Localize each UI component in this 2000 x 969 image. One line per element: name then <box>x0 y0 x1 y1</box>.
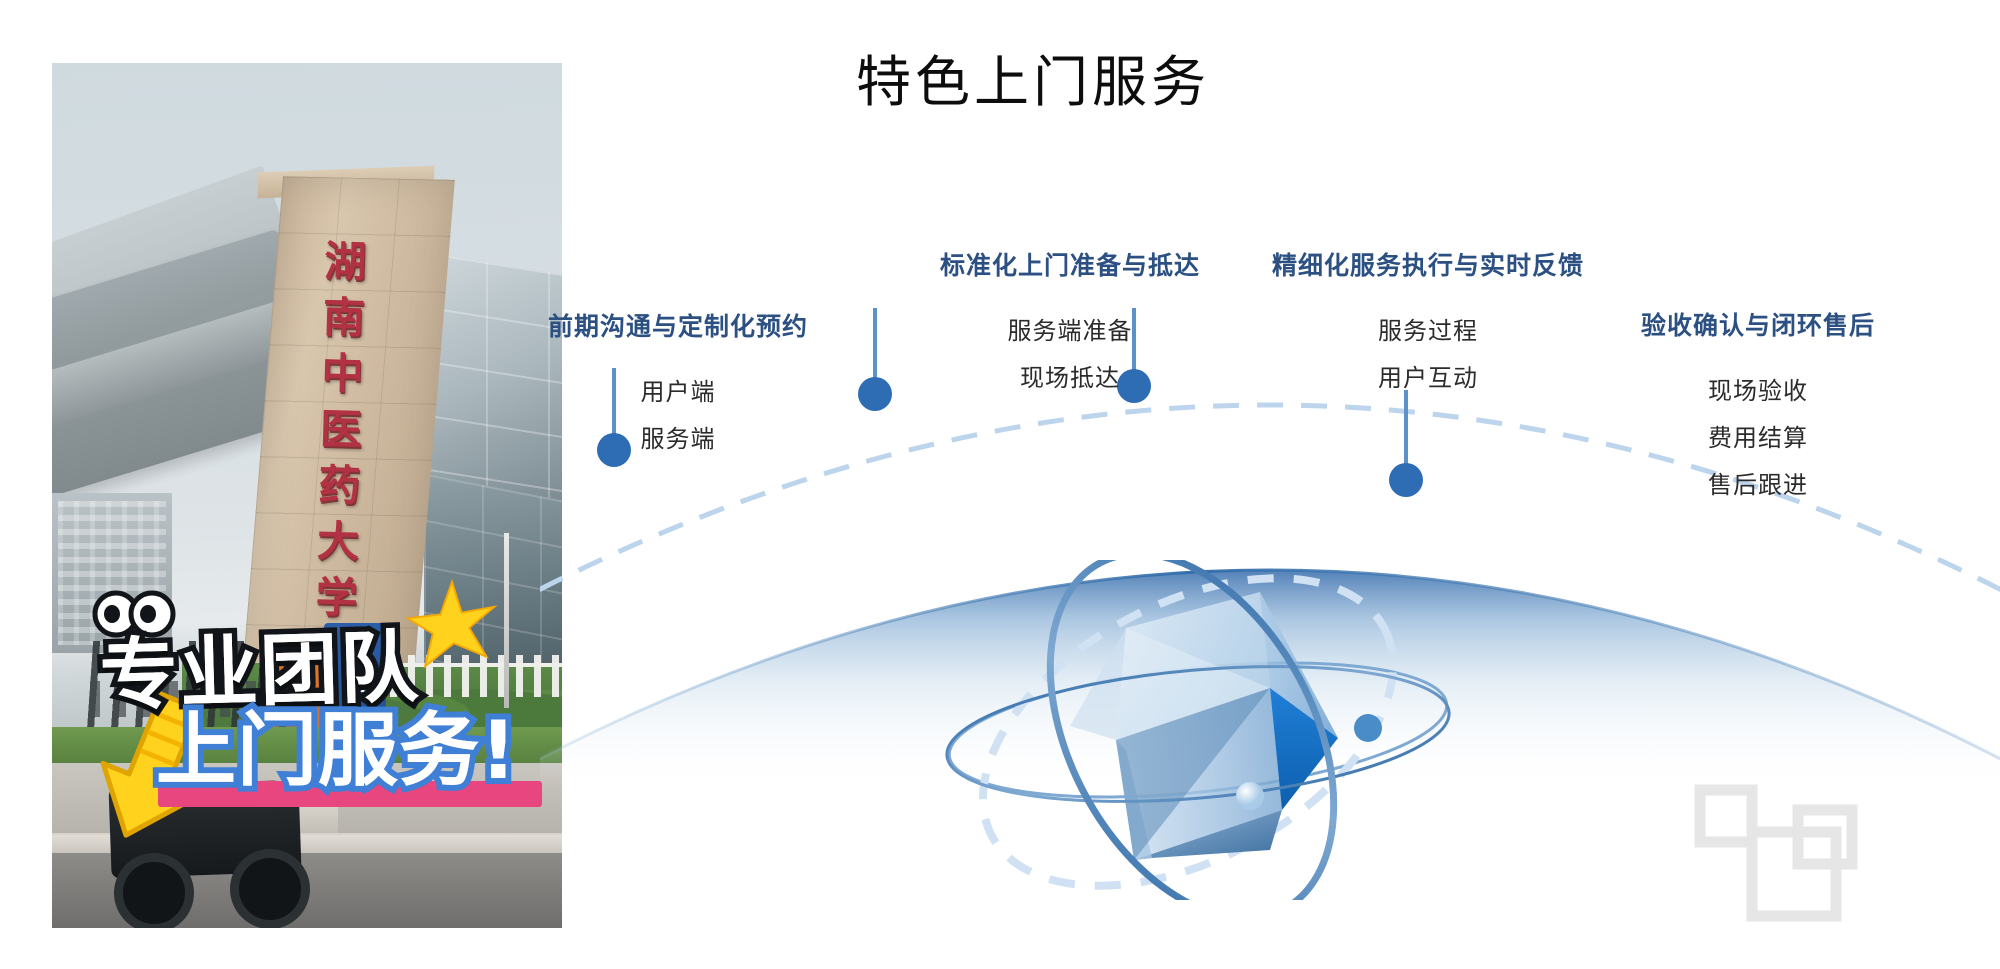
node-4-item: 售后跟进 <box>1578 462 1938 509</box>
node-2-items: 服务端准备 现场抵达 <box>890 308 1250 402</box>
node-1-heading: 前期沟通与定制化预约 <box>498 307 858 343</box>
node-1[interactable]: 前期沟通与定制化预约 用户端 服务端 <box>498 307 858 463</box>
node-4-item: 费用结算 <box>1578 415 1938 462</box>
slide-canvas: 湖 南 中 医 药 大 学 <box>0 0 2000 969</box>
node-4[interactable]: 验收确认与闭环售后 现场验收 费用结算 售后跟进 <box>1578 306 1938 509</box>
left-photo: 湖 南 中 医 药 大 学 <box>52 63 562 928</box>
node-2-item: 服务端准备 <box>890 308 1250 355</box>
crystal-orbit-graphic <box>930 560 1470 900</box>
node-2-heading: 标准化上门准备与抵达 <box>890 246 1250 282</box>
scooter-wheel-front <box>114 853 194 928</box>
node-1-item: 服务端 <box>498 416 858 463</box>
node-4-heading: 验收确认与闭环售后 <box>1578 306 1938 342</box>
node-2[interactable]: 标准化上门准备与抵达 服务端准备 现场抵达 <box>890 246 1250 402</box>
sign-char: 药 <box>318 464 361 507</box>
photo-overlay-line2: 上门服务! <box>156 703 562 799</box>
node-4-items: 现场验收 费用结算 售后跟进 <box>1578 368 1938 509</box>
page-title: 特色上门服务 <box>856 52 1210 113</box>
node-4-item: 现场验收 <box>1578 368 1938 415</box>
node-3-items: 服务过程 用户互动 <box>1238 308 1618 402</box>
node-3-item: 用户互动 <box>1238 355 1618 402</box>
scooter-wheel-rear <box>230 849 310 928</box>
node-3[interactable]: 精细化服务执行与实时反馈 服务过程 用户互动 <box>1238 246 1618 402</box>
node-1-items: 用户端 服务端 <box>498 369 858 463</box>
sign-char: 医 <box>319 408 362 451</box>
sign-char: 南 <box>322 296 365 339</box>
sign-char: 湖 <box>324 241 367 284</box>
sign-char: 学 <box>315 576 358 619</box>
node-3-heading: 精细化服务执行与实时反馈 <box>1238 246 1618 282</box>
decorative-squares <box>1690 780 1920 930</box>
node-1-item: 用户端 <box>498 369 858 416</box>
building-sign: 湖 南 中 医 药 大 学 <box>299 240 383 620</box>
sign-char: 中 <box>321 352 364 395</box>
node-2-item: 现场抵达 <box>890 355 1250 402</box>
sign-char: 大 <box>317 520 360 563</box>
node-3-item: 服务过程 <box>1238 308 1618 355</box>
